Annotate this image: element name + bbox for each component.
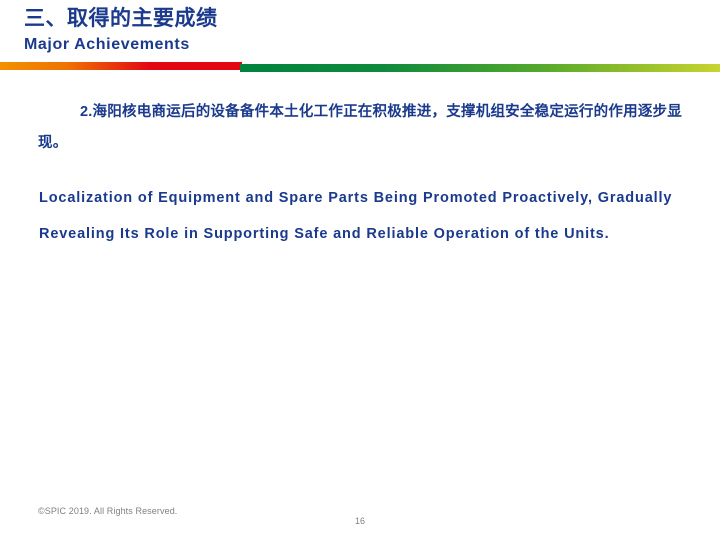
- page-title-chinese: 三、取得的主要成绩: [24, 6, 218, 32]
- body-paragraph-chinese: 2.海阳核电商运后的设备备件本土化工作正在积极推进，支撑机组安全稳定运行的作用逐…: [38, 97, 682, 159]
- orange-red-gradient-bar: [0, 62, 242, 70]
- slide-canvas: 三、取得的主要成绩 Major Achievements 2.海阳核电商运后的设…: [0, 0, 720, 540]
- footer-page-number: 16: [0, 516, 720, 526]
- footer-copyright: ©SPIC 2019. All Rights Reserved.: [38, 506, 177, 516]
- page-title-english: Major Achievements: [24, 35, 190, 55]
- green-gradient-bar: [240, 64, 720, 72]
- body-paragraph-english: Localization of Equipment and Spare Part…: [39, 180, 684, 252]
